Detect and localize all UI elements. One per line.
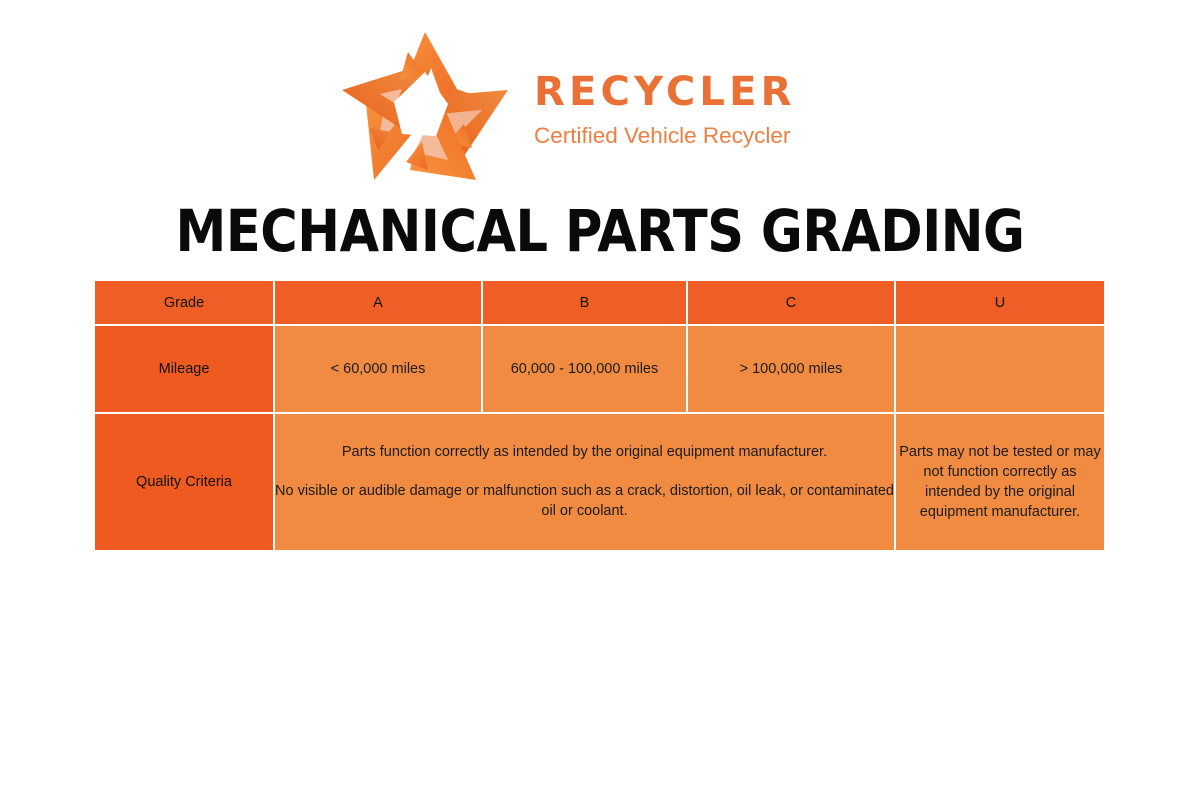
cell-mileage-c: > 100,000 miles	[688, 326, 896, 414]
table-row-quality-criteria: Quality Criteria Parts function correctl…	[95, 414, 1104, 550]
row-label-mileage: Mileage	[95, 326, 275, 414]
mechanical-parts-grading-table: Grade A B C U Mileage < 60,000 miles 60,…	[95, 281, 1104, 550]
header-grade-c: C	[688, 281, 896, 326]
table-header-row: Grade A B C U	[95, 281, 1104, 326]
brand-logo: RECYCLER Certified Vehicle Recycler	[0, 28, 1200, 186]
cell-mileage-b: 60,000 - 100,000 miles	[483, 326, 688, 414]
cell-quality-criteria-u: Parts may not be tested or may not funct…	[896, 414, 1104, 550]
header-grade: Grade	[95, 281, 275, 326]
quality-criteria-paragraph-2: No visible or audible damage or malfunct…	[275, 481, 894, 522]
header-grade-b: B	[483, 281, 688, 326]
row-label-quality-criteria: Quality Criteria	[95, 414, 275, 550]
header-grade-a: A	[275, 281, 483, 326]
page-title: MECHANICAL PARTS GRADING	[72, 196, 1128, 266]
brand-logo-text: RECYCLER Certified Vehicle Recycler	[534, 72, 774, 148]
brand-tagline: Certified Vehicle Recycler	[534, 125, 774, 148]
brand-wordmark: RECYCLER	[534, 72, 774, 112]
recycling-star-icon	[336, 28, 514, 186]
quality-criteria-paragraph-1: Parts function correctly as intended by …	[275, 442, 894, 463]
cell-mileage-u	[896, 326, 1104, 414]
cell-mileage-a: < 60,000 miles	[275, 326, 483, 414]
table-row-mileage: Mileage < 60,000 miles 60,000 - 100,000 …	[95, 326, 1104, 414]
header-grade-u: U	[896, 281, 1104, 326]
cell-quality-criteria-abc: Parts function correctly as intended by …	[275, 414, 896, 550]
brand-logo-inner: RECYCLER Certified Vehicle Recycler	[336, 28, 766, 186]
